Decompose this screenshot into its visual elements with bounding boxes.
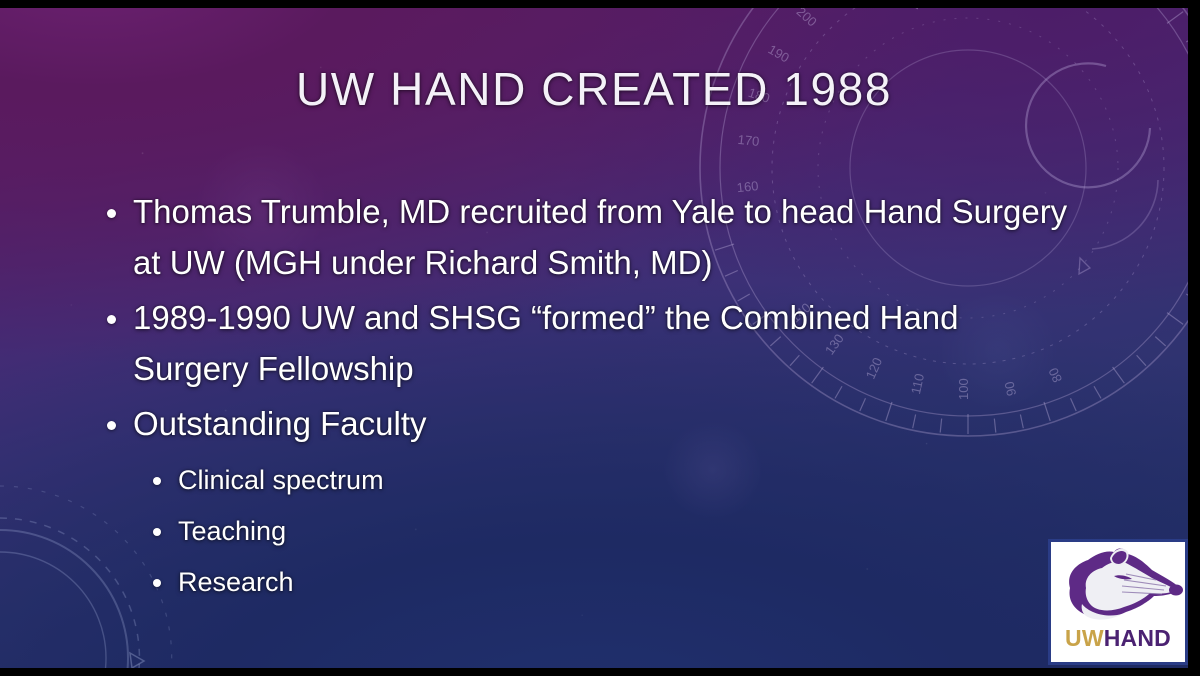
sub-bullet-list: Clinical spectrum Teaching Research <box>98 455 1068 608</box>
sub-bullet-item: Teaching <box>98 506 1068 557</box>
svg-text:200: 200 <box>794 8 820 30</box>
slide-body-bullets: Thomas Trumble, MD recruited from Yale t… <box>98 186 1068 608</box>
svg-text:170: 170 <box>737 132 760 149</box>
logo-hand-text: HAND <box>1104 625 1171 651</box>
uw-hand-logo: UWHAND <box>1048 539 1188 665</box>
presentation-slide: 200 190 180 170 160 140 130 120 110 100 … <box>0 0 1200 676</box>
bullet-item: 1989-1990 UW and SHSG “formed” the Combi… <box>98 292 1068 394</box>
husky-head-icon <box>1052 544 1184 628</box>
logo-wordmark: UWHAND <box>1065 627 1171 650</box>
bullet-item: Thomas Trumble, MD recruited from Yale t… <box>98 186 1068 288</box>
logo-uw-text: UW <box>1065 625 1104 651</box>
slide-title: UW HAND CREATED 1988 <box>0 64 1188 115</box>
bullet-item: Outstanding Faculty <box>98 398 1068 449</box>
svg-text:190: 190 <box>766 42 792 66</box>
sub-bullet-item: Clinical spectrum <box>98 455 1068 506</box>
sub-bullet-item: Research <box>98 557 1068 608</box>
slide-canvas: 200 190 180 170 160 140 130 120 110 100 … <box>0 8 1188 668</box>
